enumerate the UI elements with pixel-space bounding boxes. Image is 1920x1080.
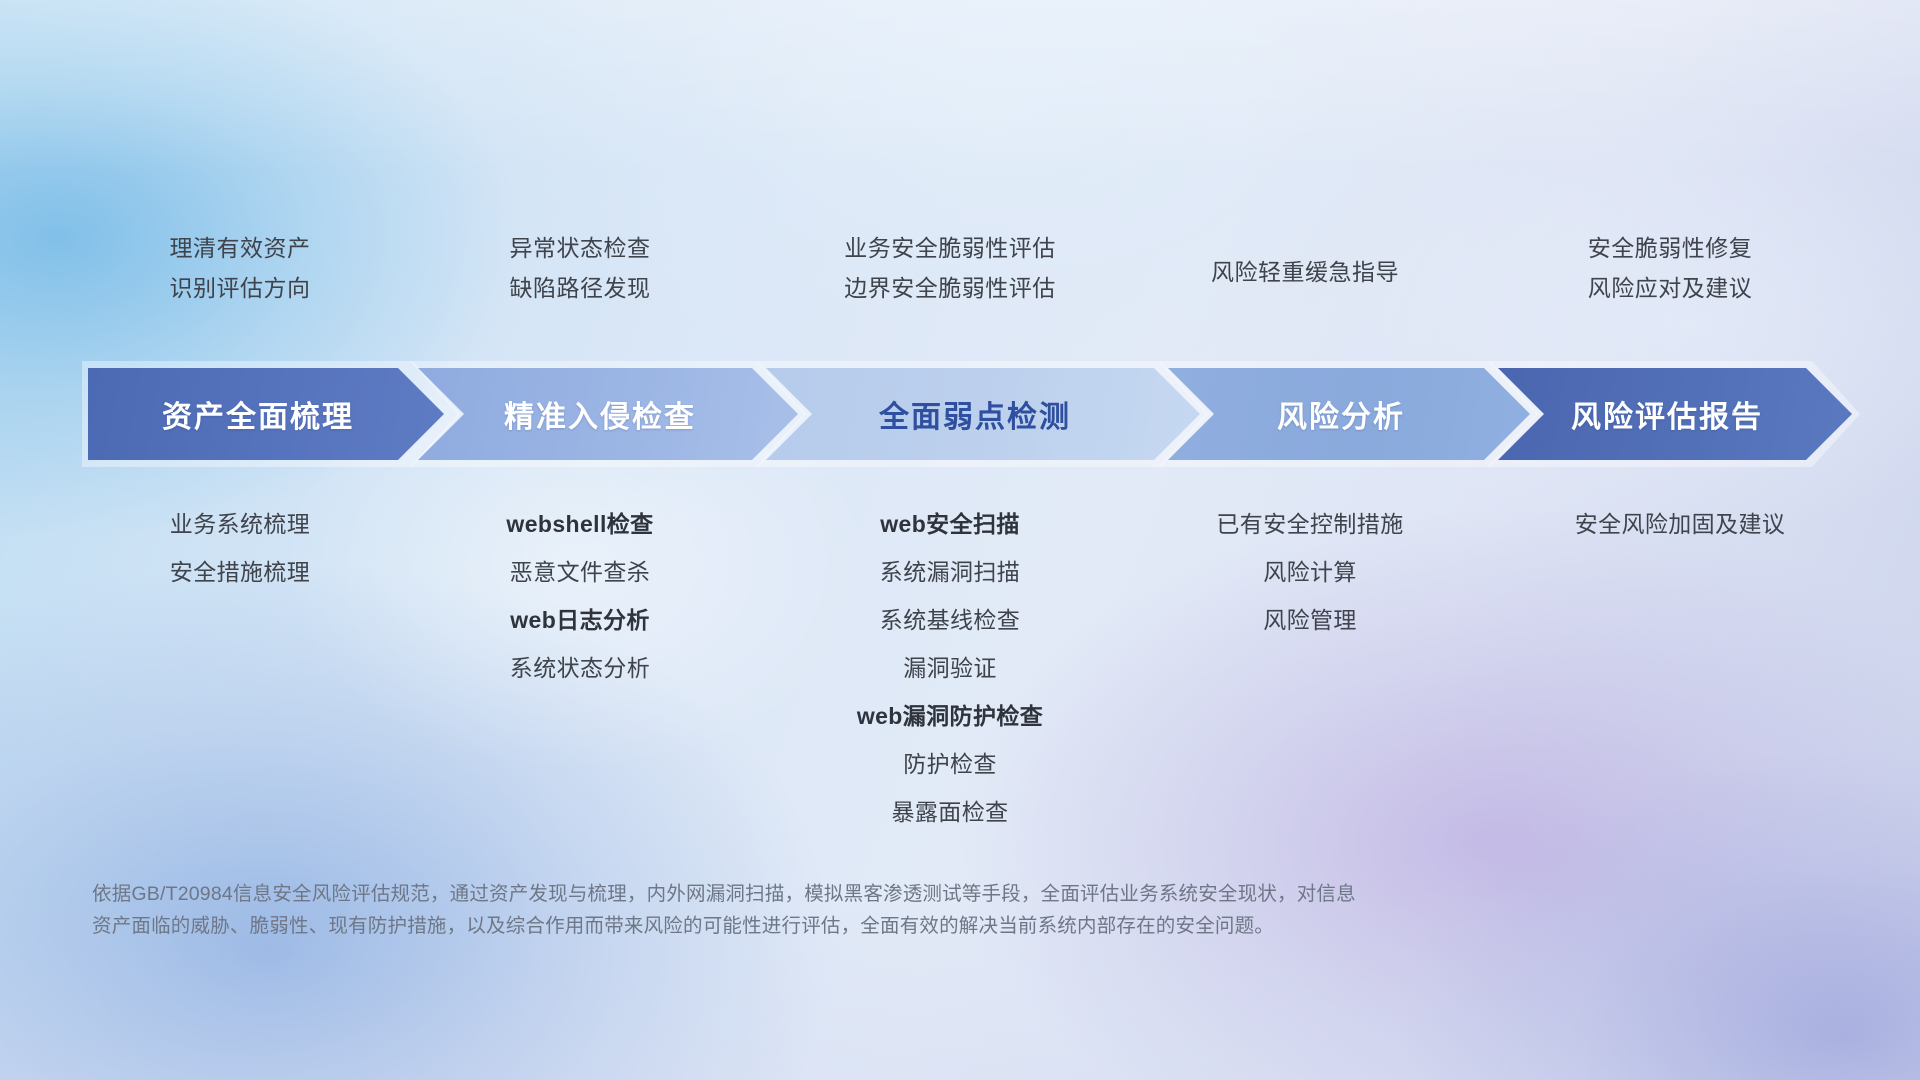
bottom-label-item: web日志分析 (400, 596, 760, 644)
bottom-label-item: 系统漏洞扫描 (755, 548, 1145, 596)
bottom-label-item: 风险管理 (1120, 596, 1500, 644)
chevron-stage-weakness-detection[interactable]: 全面弱点检测 (766, 368, 1200, 460)
bottom-label-item: 系统基线检查 (755, 596, 1145, 644)
top-labels-weakness-detection: 业务安全脆弱性评估 边界安全脆弱性评估 (760, 228, 1140, 308)
bottom-label-item: 防护检查 (755, 740, 1145, 788)
footer-description: 依据GB/T20984信息安全风险评估规范，通过资产发现与梳理，内外网漏洞扫描，… (92, 878, 1652, 942)
bottom-label-item: 恶意文件查杀 (400, 548, 760, 596)
top-label-item: 异常状态检查 (400, 228, 760, 268)
footer-line: 资产面临的威胁、脆弱性、现有防护措施，以及综合作用而带来风险的可能性进行评估，全… (92, 910, 1652, 942)
chevron-stage-asset-inventory[interactable]: 资产全面梳理 (88, 368, 444, 460)
process-chevron-band: 资产全面梳理 精准入侵检查 全面弱点检测 风险分析 风险评估报告 (88, 368, 1848, 460)
bottom-label-item: 系统状态分析 (400, 644, 760, 692)
top-labels-risk-analysis: 风险轻重缓急指导 (1115, 252, 1495, 292)
bottom-label-item: 已有安全控制措施 (1120, 500, 1500, 548)
top-label-item: 理清有效资产 (60, 228, 420, 268)
bottom-label-item: 业务系统梳理 (60, 500, 420, 548)
top-label-item: 风险轻重缓急指导 (1115, 252, 1495, 292)
top-labels-asset-inventory: 理清有效资产 识别评估方向 (60, 228, 420, 308)
top-label-item: 边界安全脆弱性评估 (760, 268, 1140, 308)
bottom-label-item: 暴露面检查 (755, 788, 1145, 836)
bottom-labels-risk-analysis: 已有安全控制措施 风险计算 风险管理 (1120, 500, 1500, 644)
top-label-item: 风险应对及建议 (1480, 268, 1860, 308)
top-label-item: 识别评估方向 (60, 268, 420, 308)
stage-top-labels: 理清有效资产 识别评估方向 异常状态检查 缺陷路径发现 业务安全脆弱性评估 边界… (0, 228, 1920, 338)
bottom-labels-weakness-detection: web安全扫描 系统漏洞扫描 系统基线检查 漏洞验证 web漏洞防护检查 防护检… (755, 500, 1145, 836)
bottom-label-item: 漏洞验证 (755, 644, 1145, 692)
chevron-stage-risk-report[interactable]: 风险评估报告 (1498, 368, 1852, 460)
top-label-item: 缺陷路径发现 (400, 268, 760, 308)
bottom-labels-asset-inventory: 业务系统梳理 安全措施梳理 (60, 500, 420, 596)
footer-line: 依据GB/T20984信息安全风险评估规范，通过资产发现与梳理，内外网漏洞扫描，… (92, 878, 1652, 910)
bottom-label-item: 风险计算 (1120, 548, 1500, 596)
chevron-stage-intrusion-check[interactable]: 精准入侵检查 (418, 368, 798, 460)
chevron-label: 精准入侵检查 (504, 392, 696, 436)
chevron-stage-risk-analysis[interactable]: 风险分析 (1168, 368, 1530, 460)
chevron-label: 全面弱点检测 (879, 392, 1071, 436)
chevron-label: 风险评估报告 (1571, 392, 1763, 436)
bottom-label-item: 安全措施梳理 (60, 548, 420, 596)
top-labels-risk-report: 安全脆弱性修复 风险应对及建议 (1480, 228, 1860, 308)
bottom-labels-risk-report: 安全风险加固及建议 (1480, 500, 1880, 548)
slide-canvas: 理清有效资产 识别评估方向 异常状态检查 缺陷路径发现 业务安全脆弱性评估 边界… (0, 0, 1920, 1080)
bottom-label-item: webshell检查 (400, 500, 760, 548)
top-labels-intrusion-check: 异常状态检查 缺陷路径发现 (400, 228, 760, 308)
top-label-item: 业务安全脆弱性评估 (760, 228, 1140, 268)
chevron-label: 风险分析 (1277, 392, 1405, 436)
chevron-label: 资产全面梳理 (162, 392, 354, 436)
bottom-label-item: 安全风险加固及建议 (1480, 500, 1880, 548)
bottom-labels-intrusion-check: webshell检查 恶意文件查杀 web日志分析 系统状态分析 (400, 500, 760, 692)
bottom-label-item: web安全扫描 (755, 500, 1145, 548)
bottom-label-item: web漏洞防护检查 (755, 692, 1145, 740)
top-label-item: 安全脆弱性修复 (1480, 228, 1860, 268)
